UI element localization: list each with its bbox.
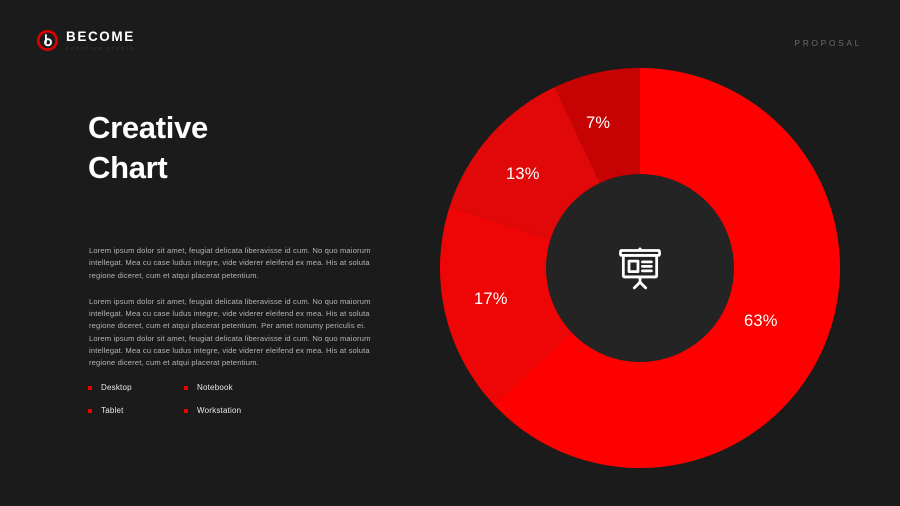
body-paragraph: Lorem ipsum dolor sit amet, feugiat deli… — [89, 245, 372, 282]
legend-marker-icon — [88, 409, 92, 413]
brand-logo[interactable]: BECOME CREATIVE STUDIO — [37, 30, 135, 51]
slice-label-13: 13% — [506, 165, 540, 184]
legend-marker-icon — [184, 409, 188, 413]
chart-legend: Desktop Notebook Tablet Workstation — [88, 383, 318, 415]
legend-marker-icon — [88, 386, 92, 390]
brand-tagline: CREATIVE STUDIO — [66, 47, 135, 51]
slice-label-17: 17% — [474, 290, 508, 309]
legend-marker-icon — [184, 386, 188, 390]
slice-label-63: 63% — [744, 312, 778, 331]
page-title-line1: Creative — [88, 110, 208, 145]
legend-label: Notebook — [197, 383, 233, 392]
slice-label-7: 7% — [586, 114, 610, 133]
legend-item-desktop[interactable]: Desktop — [88, 383, 184, 392]
legend-item-workstation[interactable]: Workstation — [184, 406, 280, 415]
body-copy: Lorem ipsum dolor sit amet, feugiat deli… — [89, 245, 372, 384]
legend-item-tablet[interactable]: Tablet — [88, 406, 184, 415]
proposal-tag: PROPOSAL — [794, 38, 862, 48]
body-paragraph: Lorem ipsum dolor sit amet, feugiat deli… — [89, 296, 372, 370]
legend-item-notebook[interactable]: Notebook — [184, 383, 280, 392]
brand-name: BECOME — [66, 30, 135, 44]
donut-chart: 63% 17% 13% 7% — [434, 62, 846, 474]
page-title-line2: Chart — [88, 150, 167, 185]
legend-label: Desktop — [101, 383, 132, 392]
presentation-board-icon — [614, 242, 666, 294]
b-circle-logo-icon — [37, 30, 58, 51]
page-title: Creative Chart — [88, 108, 208, 187]
legend-label: Tablet — [101, 406, 124, 415]
legend-label: Workstation — [197, 406, 241, 415]
slide-canvas: BECOME CREATIVE STUDIO PROPOSAL Creative… — [0, 0, 900, 506]
